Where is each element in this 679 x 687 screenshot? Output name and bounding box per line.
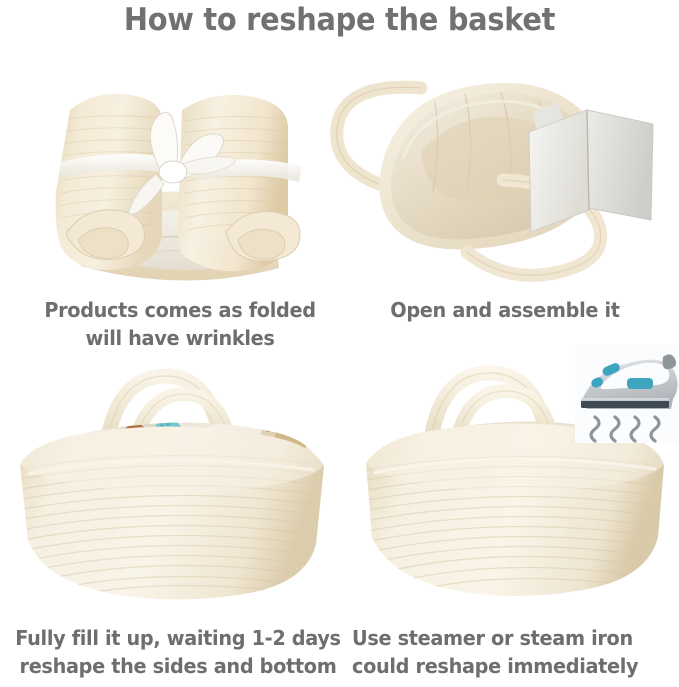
step-image-steam — [352, 345, 678, 620]
filled-basket-photo — [8, 352, 344, 620]
iron-button-center — [627, 378, 653, 389]
caption-step-steam: Use steamer or steam iron could reshape … — [352, 624, 658, 680]
divider-panel-right — [587, 110, 653, 220]
basket-body-empty — [360, 423, 679, 596]
basket-body-filled — [14, 426, 344, 599]
step-image-folded-basket — [30, 62, 330, 290]
folded-basket-with-ribbon-photo — [30, 62, 330, 290]
rolled-half-right — [178, 95, 300, 271]
steam-iron-icon — [575, 345, 678, 443]
rolled-half-left — [54, 94, 162, 270]
caption-step-fill-up: Fully fill it up, waiting 1-2 days resha… — [13, 624, 344, 680]
page-title: How to reshape the basket — [24, 2, 655, 38]
open-basket-top-view-with-divider-photo — [325, 62, 665, 290]
caption-step-open-assemble: Open and assemble it — [364, 296, 646, 324]
basket-with-steam-iron-photo — [352, 345, 678, 620]
infographic-root: How to reshape the basket — [0, 0, 679, 687]
iron-plate — [581, 400, 669, 408]
step-image-open-assemble — [325, 62, 665, 290]
caption-step-folded: Products comes as folded will have wrink… — [39, 296, 321, 352]
step-image-filled-basket — [8, 352, 344, 620]
divider-panel-left — [529, 110, 589, 232]
